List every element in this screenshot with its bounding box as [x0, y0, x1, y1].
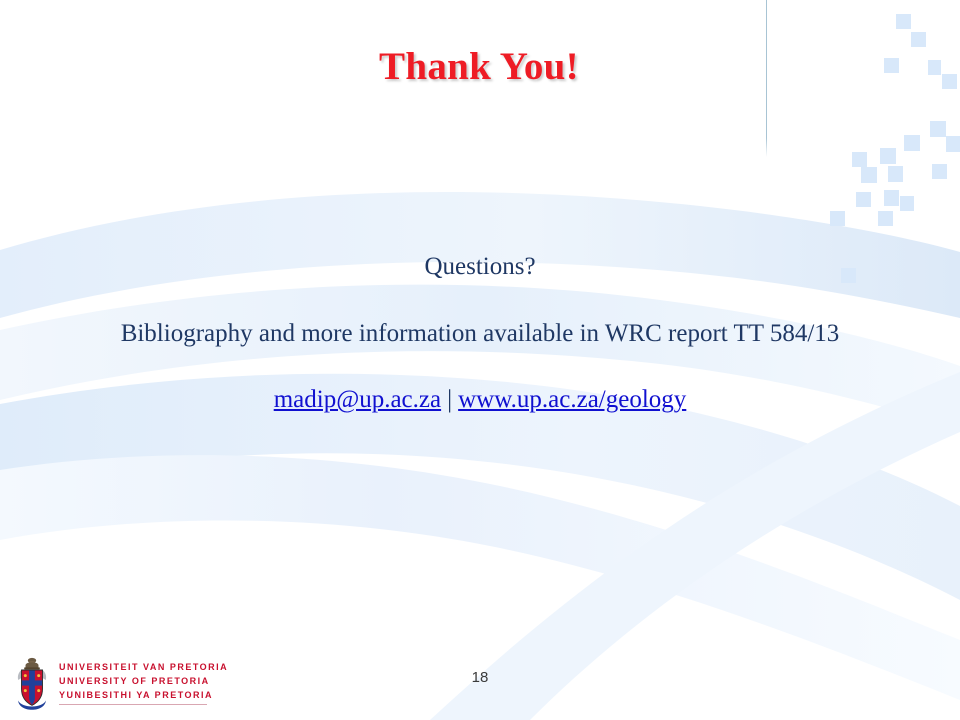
bibliography-line: Bibliography and more information availa… — [40, 319, 920, 350]
logo-underline — [59, 704, 207, 705]
page-title-text: Thank You! — [379, 46, 579, 89]
logo-line-english: UNIVERSITY OF PRETORIA — [59, 675, 228, 689]
coat-of-arms-icon — [12, 656, 52, 710]
logo-line-zulu: YUNIBESITHI YA PRETORIA — [59, 689, 228, 703]
email-link[interactable]: madip@up.ac.za — [274, 386, 441, 413]
page-title: Thank You! — [0, 46, 960, 89]
university-of-pretoria-logo: UNIVERSITEIT VAN PRETORIA UNIVERSITY OF … — [12, 654, 212, 712]
slide-canvas: Thank You! Questions? Bibliography and m… — [0, 0, 960, 720]
slide-body: Questions? Bibliography and more informa… — [40, 252, 920, 416]
logo-wordmark: UNIVERSITEIT VAN PRETORIA UNIVERSITY OF … — [59, 661, 228, 704]
logo-line-afrikaans: UNIVERSITEIT VAN PRETORIA — [59, 661, 228, 675]
questions-line: Questions? — [40, 252, 920, 283]
page-number: 18 — [440, 669, 520, 686]
contact-separator: | — [441, 386, 458, 413]
contact-line: madip@up.ac.za|www.up.ac.za/geology — [40, 385, 920, 416]
website-link[interactable]: www.up.ac.za/geology — [458, 386, 686, 413]
